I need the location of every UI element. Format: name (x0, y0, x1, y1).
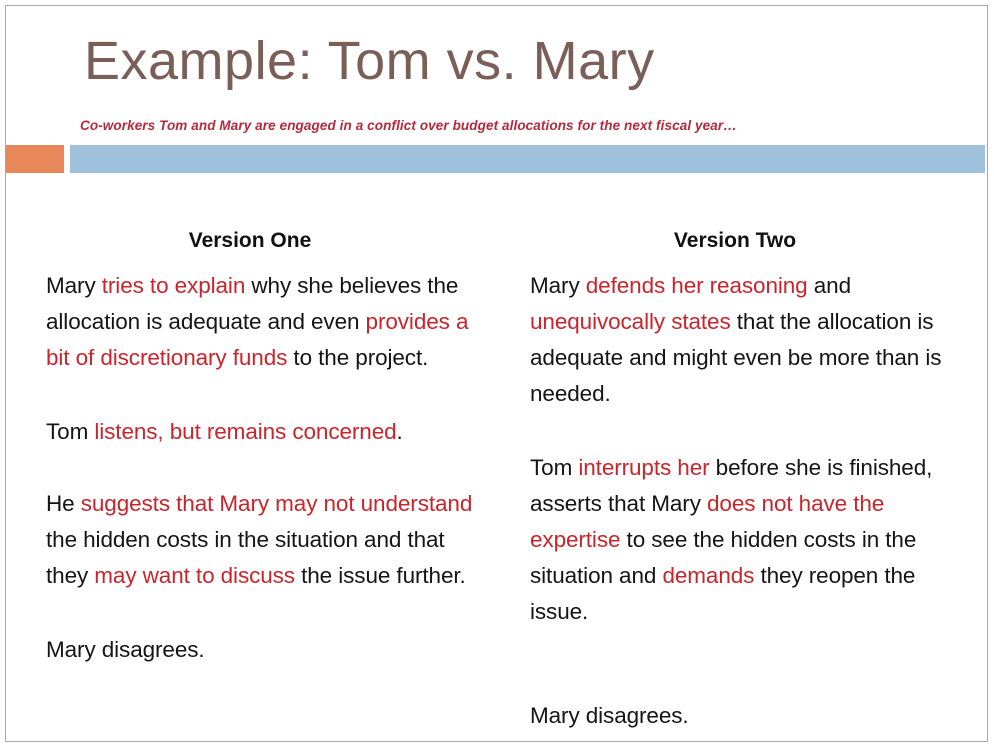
body-text-run: the issue further. (295, 563, 466, 588)
highlighted-phrase: demands (662, 563, 754, 588)
accent-square-decoration (6, 145, 64, 173)
body-text-run: to the project. (287, 345, 428, 370)
version-two-heading: Version Two (530, 228, 970, 254)
body-text-run: Tom (46, 419, 94, 444)
body-text-run: . (397, 419, 403, 444)
version-one-column: Version One Mary tries to explain why sh… (46, 228, 478, 668)
body-text-run: Mary (530, 273, 586, 298)
body-text-run: and (808, 273, 851, 298)
highlighted-phrase: interrupts her (578, 455, 709, 480)
body-text-run: Mary (46, 273, 102, 298)
body-paragraph: Mary tries to explain why she believes t… (46, 268, 478, 376)
accent-bar-decoration (70, 145, 985, 173)
highlighted-phrase: tries to explain (102, 273, 245, 298)
page-title: Example: Tom vs. Mary (84, 30, 924, 92)
body-paragraph: Mary defends her reasoning and unequivoc… (530, 268, 970, 412)
body-paragraph: Tom listens, but remains concerned. (46, 414, 478, 450)
body-text-run: Mary disagrees. (46, 637, 205, 662)
version-two-body: Mary defends her reasoning and unequivoc… (530, 268, 970, 734)
highlighted-phrase: suggests that Mary may not understand (81, 491, 473, 516)
slide-canvas: Example: Tom vs. Mary Co-workers Tom and… (0, 0, 994, 751)
highlighted-phrase: listens, but remains concerned (94, 419, 396, 444)
body-text-run: Mary disagrees. (530, 703, 689, 728)
body-text-run: Tom (530, 455, 578, 480)
version-one-heading: Version One (46, 228, 478, 254)
highlighted-phrase: defends her reasoning (586, 273, 808, 298)
body-text-run: He (46, 491, 81, 516)
body-paragraph: Mary disagrees. (46, 632, 478, 668)
body-paragraph: Tom interrupts her before she is finishe… (530, 450, 970, 630)
slide-subtitle: Co-workers Tom and Mary are engaged in a… (80, 117, 940, 135)
version-two-column: Version Two Mary defends her reasoning a… (530, 228, 970, 734)
highlighted-phrase: may want to discuss (94, 563, 295, 588)
highlighted-phrase: unequivocally states (530, 309, 731, 334)
body-paragraph: He suggests that Mary may not understand… (46, 486, 478, 594)
version-one-body: Mary tries to explain why she believes t… (46, 268, 478, 668)
body-paragraph: Mary disagrees. (530, 698, 970, 734)
